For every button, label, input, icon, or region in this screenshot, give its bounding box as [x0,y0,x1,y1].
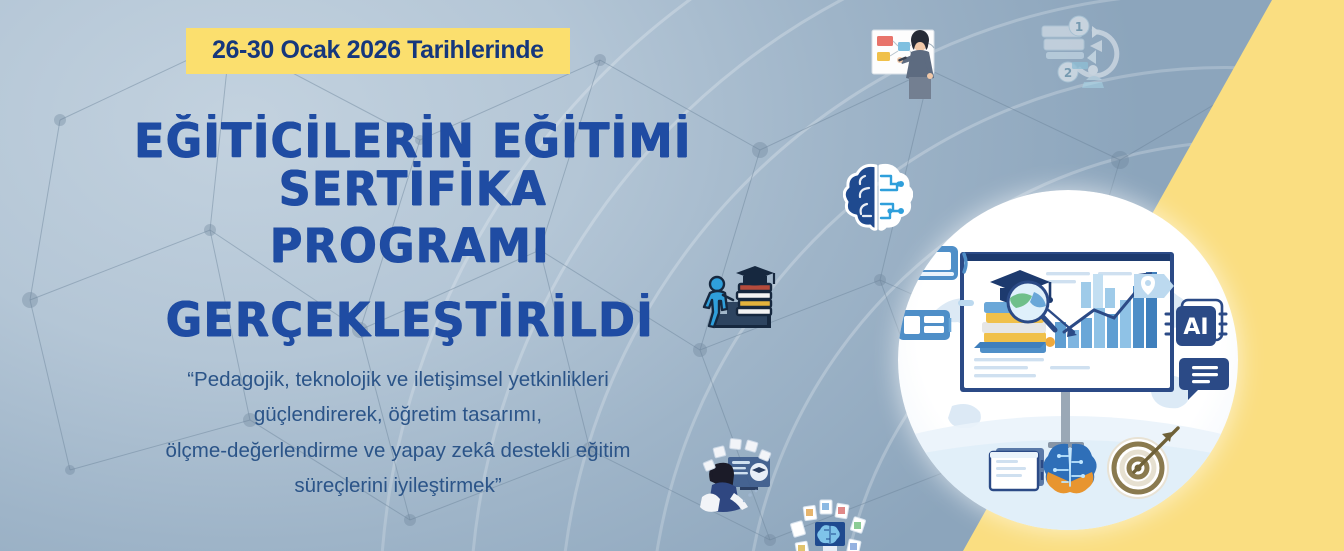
numbered-process-icon: 1 2 [1030,10,1142,96]
quote-line-4: süreçlerini iyileştirmek” [60,468,736,503]
headline-line-2: PROGRAMI [25,223,796,271]
laptop-icon [906,246,966,280]
headline-line-1: EĞİTİCİLERİN EĞİTİMİ SERTİFİKA [30,118,795,214]
small-pill-shape [958,300,974,306]
person-at-computer-icon [688,435,778,525]
headline-line-3: GERÇEKLEŞTİRİLDİ [25,297,796,345]
chart-dot [1045,337,1055,347]
promo-banner: 26-30 Ocak 2026 Tarihlerinde EĞİTİCİLERİ… [0,0,1344,551]
step-badge-1: 1 [1075,20,1083,34]
step-badge-2: 2 [1064,66,1072,80]
stairs-books-graduation-icon [697,262,777,338]
date-badge: 26-30 Ocak 2026 Tarihlerinde [186,28,570,74]
education-ai-illustration: AI [898,190,1238,530]
circuit-brain-icon [1043,444,1096,494]
media-card-icon [898,310,950,340]
circle-contents: AI [898,190,1238,530]
monitor-stack-icon [990,448,1044,490]
quote-block: “Pedagojik, teknolojik ve iletişimsel ye… [60,362,736,503]
date-badge-text: 26-30 Ocak 2026 Tarihlerinde [212,37,544,63]
quote-line-2: güçlendirerek, öğretim tasarımı, [60,397,736,432]
quote-line-3: ölçme-değerlendirme ve yapay zekâ destek… [60,433,736,468]
brain-documents-icon [786,498,872,551]
ai-chip-label: AI [1183,315,1208,340]
teacher-presenting-icon [868,22,960,102]
quote-line-1: “Pedagojik, teknolojik ve iletişimsel ye… [60,362,736,397]
illustration-circle: AI [898,190,1238,530]
